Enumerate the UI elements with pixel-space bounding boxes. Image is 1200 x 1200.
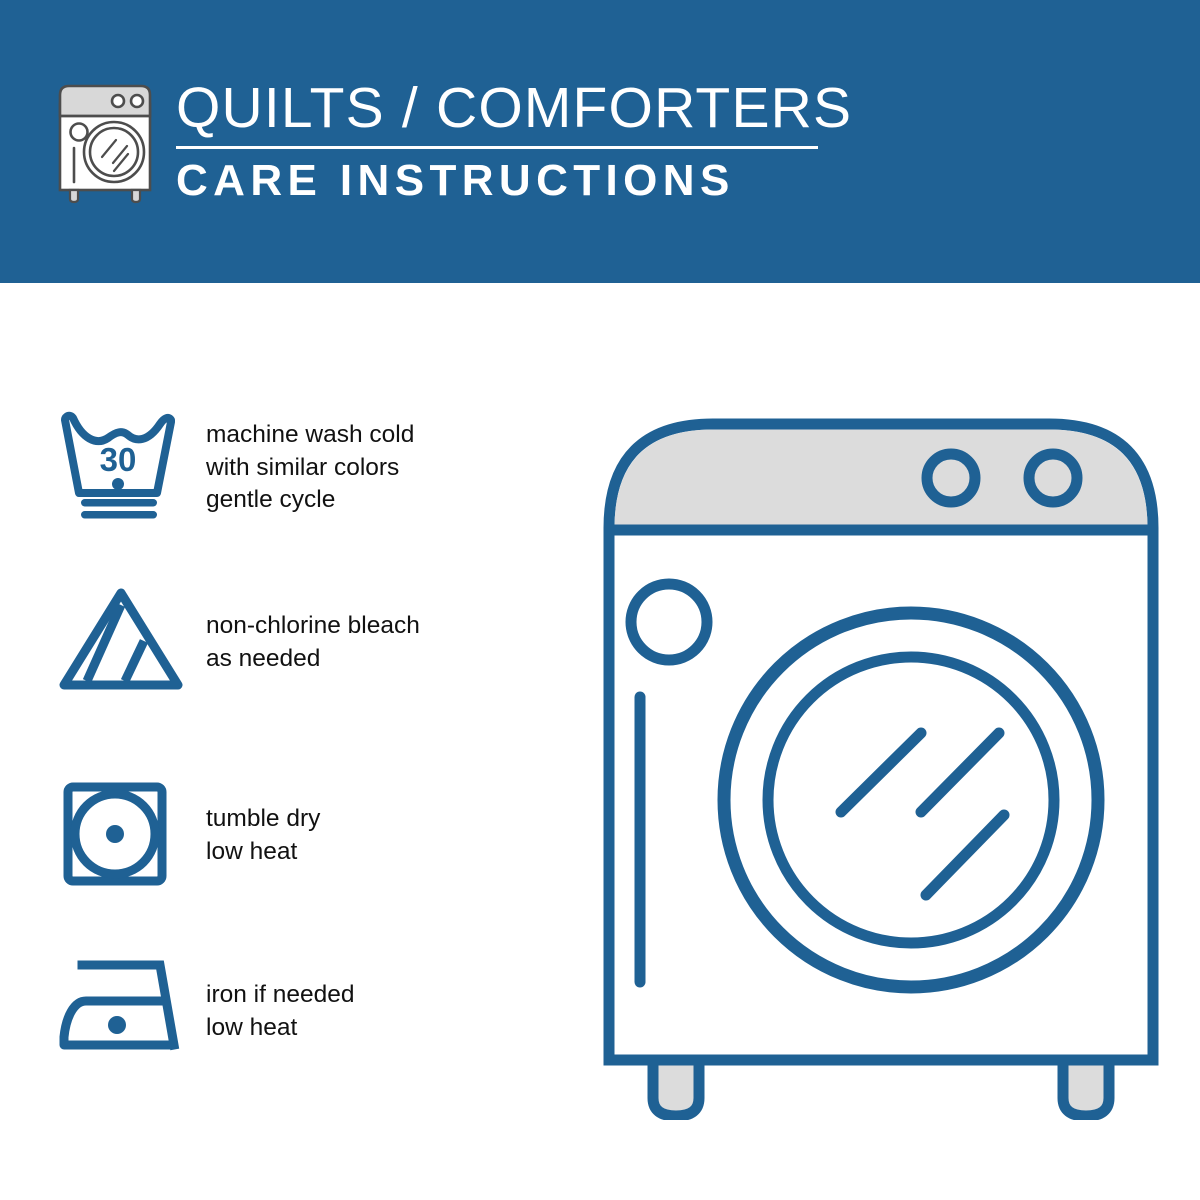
care-row-bleach: non-chlorine bleach as needed (56, 585, 536, 693)
header-band: QUILTS / COMFORTERS CARE INSTRUCTIONS (0, 0, 1200, 283)
care-instructions-page: QUILTS / COMFORTERS CARE INSTRUCTIONS 30 (0, 0, 1200, 1200)
care-row-iron: iron if needed low heat (56, 955, 536, 1055)
care-line: machine wash cold (206, 419, 536, 452)
care-symbol-bleach (56, 585, 206, 693)
header-content: QUILTS / COMFORTERS CARE INSTRUCTIONS (52, 78, 852, 204)
care-text-iron: iron if needed low heat (206, 955, 536, 1044)
care-text-tumble-dry: tumble dry low heat (206, 779, 536, 868)
care-text-machine-wash: machine wash cold with similar colors ge… (206, 408, 536, 517)
washing-machine-icon (52, 78, 158, 204)
care-line: gentle cycle (206, 484, 536, 517)
care-row-machine-wash: 30 machine wash cold with similar colors… (56, 408, 536, 520)
care-line: with similar colors (206, 452, 536, 485)
wash-tub-icon: 30 (56, 408, 201, 520)
care-line: tumble dry (206, 803, 536, 836)
title-divider (176, 146, 818, 149)
header-titles: QUILTS / COMFORTERS CARE INSTRUCTIONS (176, 78, 852, 203)
washing-machine-illustration (596, 400, 1166, 1120)
bleach-triangle-icon (56, 585, 186, 693)
svg-text:30: 30 (100, 441, 137, 478)
care-line: as needed (206, 643, 536, 676)
page-title: QUILTS / COMFORTERS (176, 80, 852, 137)
page-subtitle: CARE INSTRUCTIONS (176, 159, 852, 203)
iron-icon (56, 955, 196, 1055)
care-instruction-list: 30 machine wash cold with similar colors… (0, 283, 560, 1200)
foot-right (1063, 1060, 1109, 1116)
care-symbol-tumble-dry (56, 779, 206, 889)
tumble-dry-icon (56, 779, 174, 889)
care-symbol-wash: 30 (56, 408, 206, 520)
care-row-tumble-dry: tumble dry low heat (56, 779, 536, 889)
foot-left (653, 1060, 699, 1116)
care-line: non-chlorine bleach (206, 610, 536, 643)
care-line: iron if needed (206, 979, 536, 1012)
care-text-bleach: non-chlorine bleach as needed (206, 585, 536, 675)
care-line: low heat (206, 1012, 536, 1045)
care-line: low heat (206, 836, 536, 869)
care-symbol-iron (56, 955, 206, 1055)
